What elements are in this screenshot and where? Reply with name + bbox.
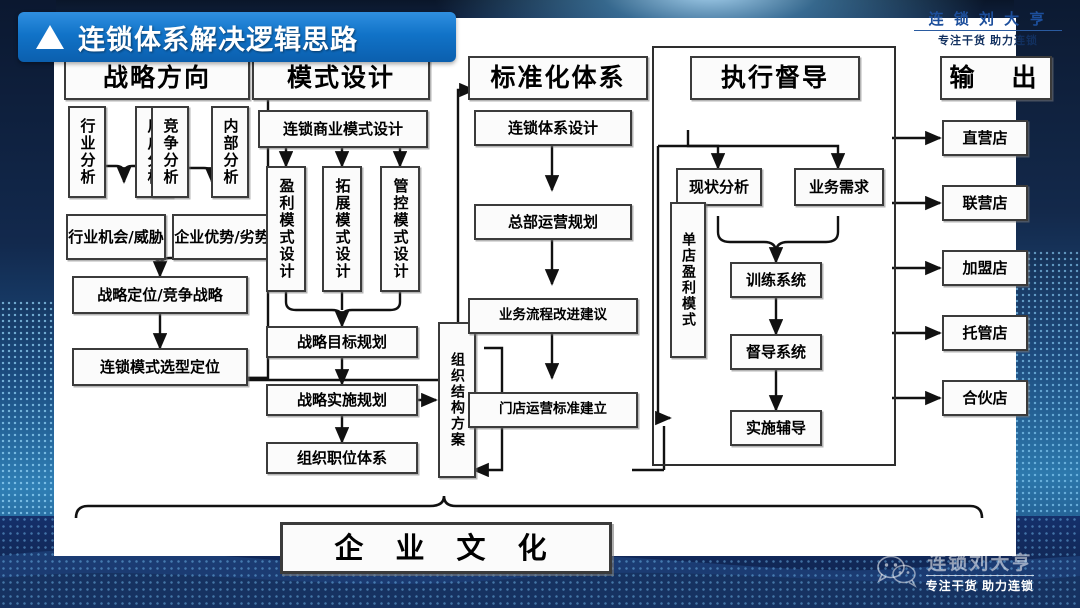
box-output-direct-store[interactable]: 直营店: [942, 120, 1028, 156]
column-header-standardization: 标准化体系: [468, 56, 648, 100]
page-title: 连锁体系解决逻辑思路: [78, 18, 358, 57]
box-internal-analysis[interactable]: 内部分析: [211, 106, 249, 198]
box-industry-opportunity-threat[interactable]: 行业机会/威胁: [66, 214, 166, 260]
box-chain-business-model-design[interactable]: 连锁商业模式设计: [258, 110, 428, 148]
box-business-process-improvement[interactable]: 业务流程改进建议: [468, 298, 638, 334]
column-header-output: 输 出: [940, 56, 1052, 100]
box-corporate-culture[interactable]: 企 业 文 化: [280, 522, 612, 574]
box-chain-model-selection[interactable]: 连锁模式选型定位: [72, 348, 248, 386]
column-header-strategy: 战略方向: [64, 56, 250, 100]
box-store-operation-standard[interactable]: 门店运营标准建立: [468, 392, 638, 428]
brand-watermark-bottom: 连锁刘大亨 专注干货 助力连锁: [876, 548, 1034, 594]
box-competition-analysis[interactable]: 竞争分析: [151, 106, 189, 198]
box-output-joint-store[interactable]: 联营店: [942, 185, 1028, 221]
triangle-up-icon: [36, 25, 64, 49]
box-business-requirements[interactable]: 业务需求: [794, 168, 884, 206]
box-strategy-implementation-planning[interactable]: 战略实施规划: [266, 384, 418, 416]
brand-logo-top: 连 锁 刘 大 亨 专注干货 助力连锁: [914, 8, 1062, 48]
column-header-supervision: 执行督导: [690, 56, 860, 100]
box-chain-system-design[interactable]: 连锁体系设计: [474, 110, 632, 146]
box-hq-operation-planning[interactable]: 总部运营规划: [474, 204, 632, 240]
box-output-franchise-store[interactable]: 加盟店: [942, 250, 1028, 286]
box-strategic-positioning[interactable]: 战略定位/竞争战略: [72, 276, 248, 314]
flow-diagram: 战略方向 行业分析 用户分析 竞争分析 内部分析 行业机会/威胁 企业优势/劣势…: [54, 18, 1016, 556]
brand-tagline-bottom: 专注干货 助力连锁: [926, 575, 1034, 594]
box-control-model-design[interactable]: 管控模式设计: [380, 166, 420, 292]
box-strategic-goal-planning[interactable]: 战略目标规划: [266, 326, 418, 358]
slide-title-banner: 连锁体系解决逻辑思路: [18, 12, 456, 62]
brand-name-top: 连 锁 刘 大 亨: [914, 8, 1062, 29]
box-supervision-system[interactable]: 督导系统: [730, 334, 822, 370]
box-company-strength-weakness[interactable]: 企业优势/劣势: [172, 214, 272, 260]
box-profit-model-design[interactable]: 盈利模式设计: [266, 166, 306, 292]
brand-name-bottom: 连锁刘大亨: [926, 548, 1034, 575]
wechat-icon: [876, 554, 918, 588]
box-expansion-model-design[interactable]: 拓展模式设计: [322, 166, 362, 292]
box-output-managed-store[interactable]: 托管店: [942, 315, 1028, 351]
box-industry-analysis[interactable]: 行业分析: [68, 106, 106, 198]
column-header-model-design: 模式设计: [252, 56, 430, 100]
box-output-partner-store[interactable]: 合伙店: [942, 380, 1028, 416]
box-org-position-system[interactable]: 组织职位体系: [266, 442, 418, 474]
box-training-system[interactable]: 训练系统: [730, 262, 822, 298]
box-implementation-coaching[interactable]: 实施辅导: [730, 410, 822, 446]
brand-tagline-top: 专注干货 助力连锁: [914, 30, 1062, 48]
box-current-status-analysis[interactable]: 现状分析: [676, 168, 762, 206]
box-single-store-profit-model[interactable]: 单店盈利模式: [670, 202, 706, 358]
